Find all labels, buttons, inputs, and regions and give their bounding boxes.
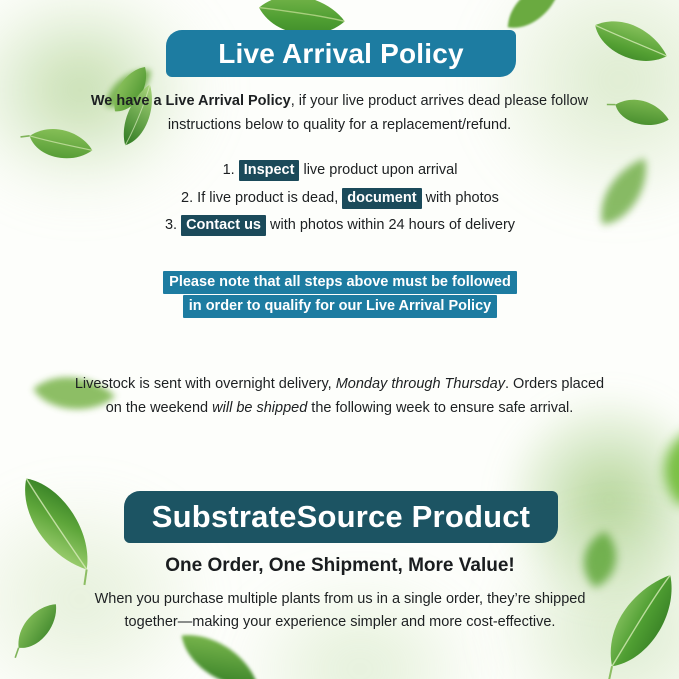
step-highlight-inspect[interactable]: Inspect xyxy=(239,160,300,181)
shipping-line1-b: . xyxy=(505,376,509,392)
substratesource-product-title: SubstrateSource Product xyxy=(152,499,530,535)
value-paragraph: When you purchase multiple plants from u… xyxy=(80,588,600,634)
step-number: 1. xyxy=(223,162,235,178)
list-item: 2. If live product is dead, document wit… xyxy=(60,191,620,206)
live-arrival-policy-banner: Live Arrival Policy xyxy=(166,30,516,77)
step-number: 2. xyxy=(181,190,193,206)
policy-note-line-2-text: in order to qualify for our Live Arrival… xyxy=(183,295,497,318)
intro-bold-lead: We have a Live Arrival Policy xyxy=(91,93,291,109)
substratesource-product-banner: SubstrateSource Product xyxy=(124,491,558,543)
shipping-line2-italic: will be shipped xyxy=(212,400,307,416)
policy-note-line-1: Please note that all steps above must be… xyxy=(60,274,620,290)
policy-note-line-1-text: Please note that all steps above must be… xyxy=(163,271,517,294)
step-highlight-contact-us[interactable]: Contact us xyxy=(181,215,266,236)
steps-list: 1. Inspect live product upon arrival 2. … xyxy=(60,163,620,246)
shipping-line3: to ensure safe arrival. xyxy=(434,400,573,416)
list-item: 1. Inspect live product upon arrival xyxy=(60,163,620,178)
policy-content: Live Arrival Policy We have a Live Arriv… xyxy=(0,0,679,679)
shipping-line1-a: Livestock is sent with overnight deliver… xyxy=(75,376,336,392)
list-item: 3. Contact us with photos within 24 hour… xyxy=(60,218,620,233)
shipping-line2-b: the following week xyxy=(307,400,430,416)
live-arrival-policy-page: Live Arrival Policy We have a Live Arriv… xyxy=(0,0,679,679)
step-highlight-document[interactable]: document xyxy=(342,188,421,209)
shipping-paragraph: Livestock is sent with overnight deliver… xyxy=(72,373,607,421)
step-after-text: live product upon arrival xyxy=(303,162,457,178)
policy-note: Please note that all steps above must be… xyxy=(60,274,620,322)
intro-paragraph: We have a Live Arrival Policy, if your l… xyxy=(72,90,607,138)
step-number: 3. xyxy=(165,217,177,233)
policy-note-line-2: in order to qualify for our Live Arrival… xyxy=(60,298,620,314)
step-after-text: with photos within 24 hours of delivery xyxy=(270,217,515,233)
step-after-text: with photos xyxy=(426,190,499,206)
shipping-line1-italic: Monday through Thursday xyxy=(336,376,505,392)
live-arrival-policy-title: Live Arrival Policy xyxy=(218,38,464,70)
step-before-text: If live product is dead, xyxy=(197,190,338,206)
value-subheading: One Order, One Shipment, More Value! xyxy=(60,555,620,577)
